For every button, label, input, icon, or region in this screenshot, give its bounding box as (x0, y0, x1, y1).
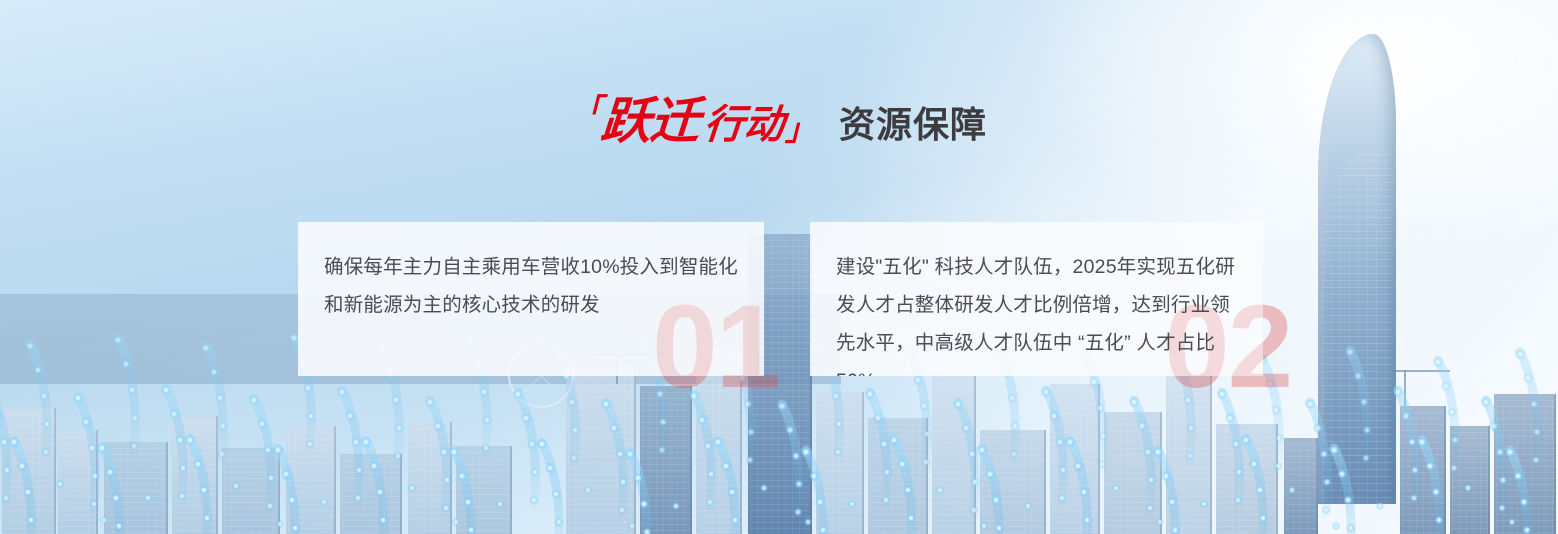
brand-main-text: 跃迁 (599, 96, 700, 146)
building (1494, 394, 1556, 534)
building (1400, 406, 1446, 534)
building (2, 408, 56, 534)
sky-haze-overlay (0, 0, 1558, 534)
building (456, 446, 512, 534)
cityscape-background (0, 234, 1558, 534)
landmark-tower (1318, 34, 1396, 504)
building (566, 366, 636, 534)
building (816, 392, 864, 534)
construction-crane-icon (1404, 370, 1476, 406)
building (868, 418, 928, 534)
sun-glow-icon (1290, 14, 1430, 154)
building (1050, 384, 1100, 534)
slide-canvas: 01 02 「 跃迁 行动 」 资源保障 确保每年主力自主乘用车营收10%投入到… (0, 0, 1558, 534)
building (932, 376, 976, 534)
content-panel-01: 确保每年主力自主乘用车营收10%投入到智能化和新能源为主的核心技术的研发 (298, 222, 764, 376)
page-title: 资源保障 (839, 107, 987, 146)
building (1450, 426, 1490, 534)
building (980, 430, 1046, 534)
building (640, 386, 692, 534)
building (286, 426, 336, 534)
building (172, 416, 218, 534)
slide-header: 「 跃迁 行动 」 资源保障 (572, 96, 987, 146)
panel-02-text: 建设"五化" 科技人才队伍，2025年实现五化研发人才占整体研发人才比例倍增，达… (836, 248, 1237, 376)
panel-01-text: 确保每年主力自主乘用车营收10%投入到智能化和新能源为主的核心技术的研发 (324, 248, 738, 324)
brand-sub-text: 行动 (702, 105, 785, 145)
building (1284, 438, 1318, 534)
building (408, 422, 452, 534)
building (1104, 412, 1162, 534)
quote-close-icon: 」 (785, 116, 813, 146)
dot-network-overlay (0, 334, 1558, 534)
building (222, 448, 280, 534)
building (58, 430, 98, 534)
brand-logo: 「 跃迁 行动 」 (572, 96, 813, 146)
building (340, 454, 402, 534)
building (1166, 370, 1212, 534)
building (1216, 424, 1278, 534)
building (104, 442, 168, 534)
content-panel-02: 建设"五化" 科技人才队伍，2025年实现五化研发人才占整体研发人才比例倍增，达… (810, 222, 1263, 376)
quote-open-icon: 「 (572, 96, 600, 126)
